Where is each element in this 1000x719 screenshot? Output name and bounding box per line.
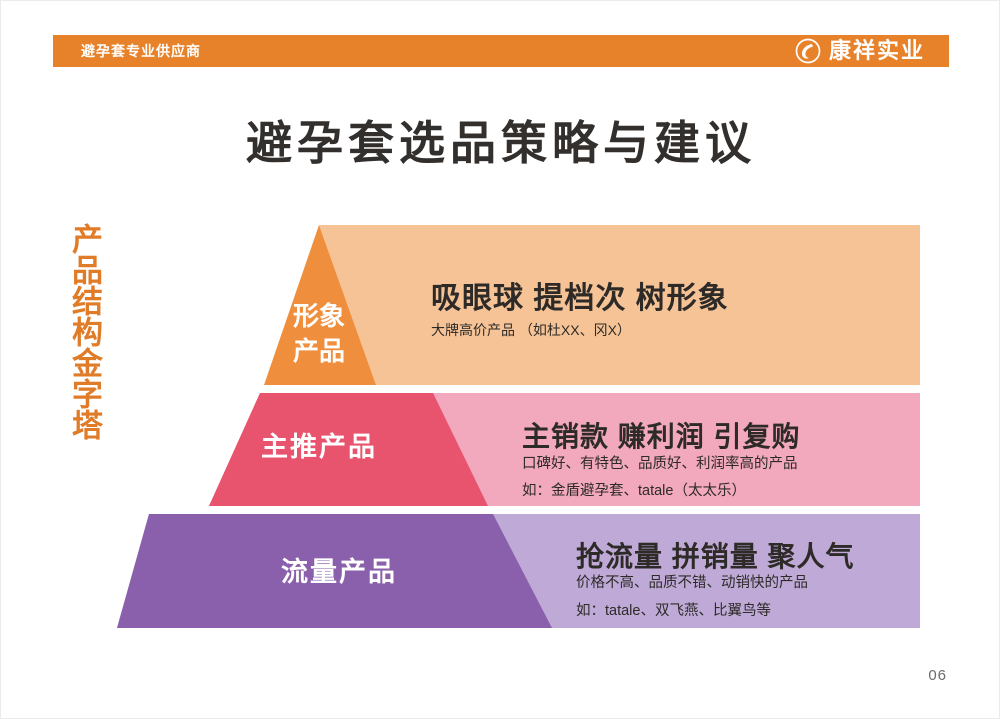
- page-title: 避孕套选品策略与建议: [1, 113, 1000, 173]
- tier-main-push-name: 主推产品: [229, 429, 409, 465]
- tier-image-product-headline: 吸眼球 提档次 树形象: [431, 273, 729, 317]
- tier-traffic-headline: 抢流量 拼销量 聚人气: [576, 535, 855, 575]
- tier-image-product-name: 形象 产品: [263, 299, 375, 369]
- tier-main-push-headline: 主销款 赚利润 引复购: [522, 415, 801, 455]
- pyramid-diagram: [1, 1, 1000, 719]
- brand-logo: 康祥实业: [795, 35, 947, 67]
- tier-image-product-name-line2: 产品: [263, 334, 375, 369]
- tier-traffic-subline-1: 价格不高、品质不错、动销快的产品: [576, 571, 808, 592]
- slide-canvas: 避孕套专业供应商 康祥实业 避孕套选品策略与建议 产品结构金字塔 形象 产品 吸…: [0, 0, 1000, 719]
- tier-image-product-name-line1: 形象: [263, 299, 375, 334]
- tier-main-push-subline-1: 口碑好、有特色、品质好、利润率高的产品: [522, 452, 798, 473]
- tier-image-product-subline-1: 大牌高价产品 （如杜XX、冈X）: [431, 320, 631, 340]
- tier-traffic-name: 流量产品: [249, 554, 429, 590]
- page-number: 06: [928, 666, 947, 686]
- tier-traffic-subline-2: 如：tatale、双飞燕、比翼鸟等: [576, 599, 771, 620]
- pyramid-axis-label: 产品结构金字塔: [61, 223, 105, 440]
- brand-name: 康祥实业: [829, 38, 925, 64]
- tier-main-push-subline-2: 如：金盾避孕套、tatale（太太乐）: [522, 479, 746, 500]
- header-tagline: 避孕套专业供应商: [81, 42, 201, 60]
- flame-leaf-circle-icon: [795, 38, 821, 64]
